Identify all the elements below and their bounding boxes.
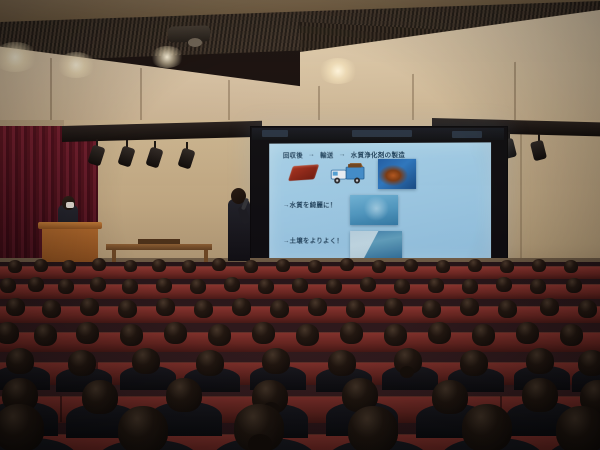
audience-head [462, 404, 512, 450]
audience-head [190, 279, 206, 294]
audience-head [118, 300, 137, 318]
audience-head [80, 298, 99, 316]
audience-head [92, 258, 106, 271]
audience-head [428, 278, 444, 293]
seat-divider [60, 396, 62, 422]
audience-head [224, 277, 240, 292]
audience-head [526, 348, 554, 374]
audience-head [258, 279, 274, 294]
slide-heading: 回収後 → 輸送 → 水質浄化剤の製造 [283, 149, 405, 160]
slide-step-2: 輸送 [320, 149, 333, 159]
audience-head [540, 298, 559, 316]
downlight-icon [318, 58, 358, 84]
ceiling-seam [50, 58, 52, 124]
audience-head [428, 322, 451, 344]
audience-head [152, 259, 166, 272]
audience-head [422, 300, 441, 318]
audience-head [472, 324, 495, 346]
audience-head [196, 350, 224, 376]
audience-head [384, 298, 403, 316]
audience-head [118, 406, 168, 450]
screen-tab [352, 130, 412, 137]
audience-head [404, 259, 418, 272]
algae-block-icon [288, 164, 319, 181]
audience-head [28, 277, 44, 292]
audience-head [182, 260, 196, 273]
audience-head [578, 300, 597, 318]
audience-head [156, 298, 175, 316]
slide-step-1: 回収後 [283, 149, 303, 159]
face-mask-icon [66, 202, 74, 208]
audience-head [556, 406, 600, 450]
audience-head [326, 279, 342, 294]
audience-head [296, 324, 319, 346]
audience-head [120, 324, 143, 346]
audience-head [42, 300, 61, 318]
ceiling-seam [412, 74, 414, 126]
audience-head [34, 259, 48, 272]
audience-head [6, 298, 25, 316]
audience-head [0, 404, 44, 450]
audience-head [348, 406, 398, 450]
audience-head [578, 350, 600, 376]
audience-head [244, 260, 258, 273]
audience-head [232, 298, 251, 316]
audience-head [8, 260, 22, 273]
audience-head [460, 350, 488, 376]
audience-head [82, 380, 118, 414]
audience-head [308, 298, 327, 316]
audience-head [58, 279, 74, 294]
audience-head [0, 278, 16, 293]
audience-head [68, 350, 96, 376]
audience-hair-bun [248, 434, 272, 450]
audience-head [132, 348, 160, 374]
audience-head [516, 322, 539, 344]
audience-head [292, 278, 308, 293]
downlight-icon [150, 46, 184, 68]
screen-tab [452, 131, 482, 138]
audience-head [328, 350, 356, 376]
audience-head [522, 378, 558, 412]
audience-head [532, 259, 546, 272]
photo-factory [378, 159, 416, 189]
audience-head [460, 298, 479, 316]
audience-head [270, 300, 289, 318]
podium-top [38, 222, 102, 229]
projected-slide: 回収後 → 輸送 → 水質浄化剤の製造 →水質を綺麗に！ →土壌をよりよく！ [269, 142, 491, 261]
slide-step-3: 水質浄化剤の製造 [351, 149, 405, 159]
audience-head [468, 259, 482, 272]
audience-head [156, 278, 172, 293]
audience-head [564, 260, 578, 273]
audience-head [498, 300, 517, 318]
audience-head [566, 278, 582, 293]
audience-head [384, 324, 407, 346]
audience-head [346, 300, 365, 318]
audience-head [360, 277, 376, 292]
audience-head [76, 322, 99, 344]
ceiling-seam [514, 62, 516, 120]
audience-head [194, 300, 213, 318]
projector-lens-icon [188, 38, 202, 47]
audience-hair-bun [400, 366, 414, 378]
audience-head [6, 348, 34, 374]
audience-head [90, 277, 106, 292]
audience-head [560, 324, 583, 346]
audience-head [122, 279, 138, 294]
screen-tab [262, 130, 288, 137]
audience-head [340, 322, 363, 344]
downlight-icon [56, 52, 96, 78]
audience-head [436, 260, 450, 273]
audience-head [166, 378, 202, 412]
audience-head [0, 322, 19, 344]
arrow-right-icon: → [308, 151, 315, 158]
arrow-right-icon: → [339, 151, 346, 158]
audience-head [462, 279, 478, 294]
audience-head [500, 260, 514, 273]
audience-head [262, 348, 290, 374]
audience-head [432, 380, 468, 414]
audience-head [496, 277, 512, 292]
slide-bullet-water: →水質を綺麗に！ [283, 199, 337, 209]
audience-head [34, 324, 57, 346]
delivery-truck-icon [330, 161, 366, 185]
audience-head [340, 258, 354, 271]
photo-field [350, 231, 402, 259]
audience-head [530, 279, 546, 294]
audience-area [0, 262, 600, 450]
audience-head [208, 324, 231, 346]
audience-head [212, 258, 226, 271]
audience-head [252, 322, 275, 344]
audience-head [372, 260, 386, 273]
audience-head [164, 322, 187, 344]
photo-sea [350, 195, 398, 225]
audience-head [276, 259, 290, 272]
audience-head [394, 279, 410, 294]
auditorium-photo: 回収後 → 輸送 → 水質浄化剤の製造 →水質を綺麗に！ →土壌をよりよく！ [0, 0, 600, 450]
audience-head [124, 260, 137, 272]
audience-head [308, 260, 322, 273]
stage-table [106, 244, 212, 250]
slide-bullet-soil: →土壌をよりよく！ [283, 235, 343, 245]
audience-head [62, 260, 76, 273]
